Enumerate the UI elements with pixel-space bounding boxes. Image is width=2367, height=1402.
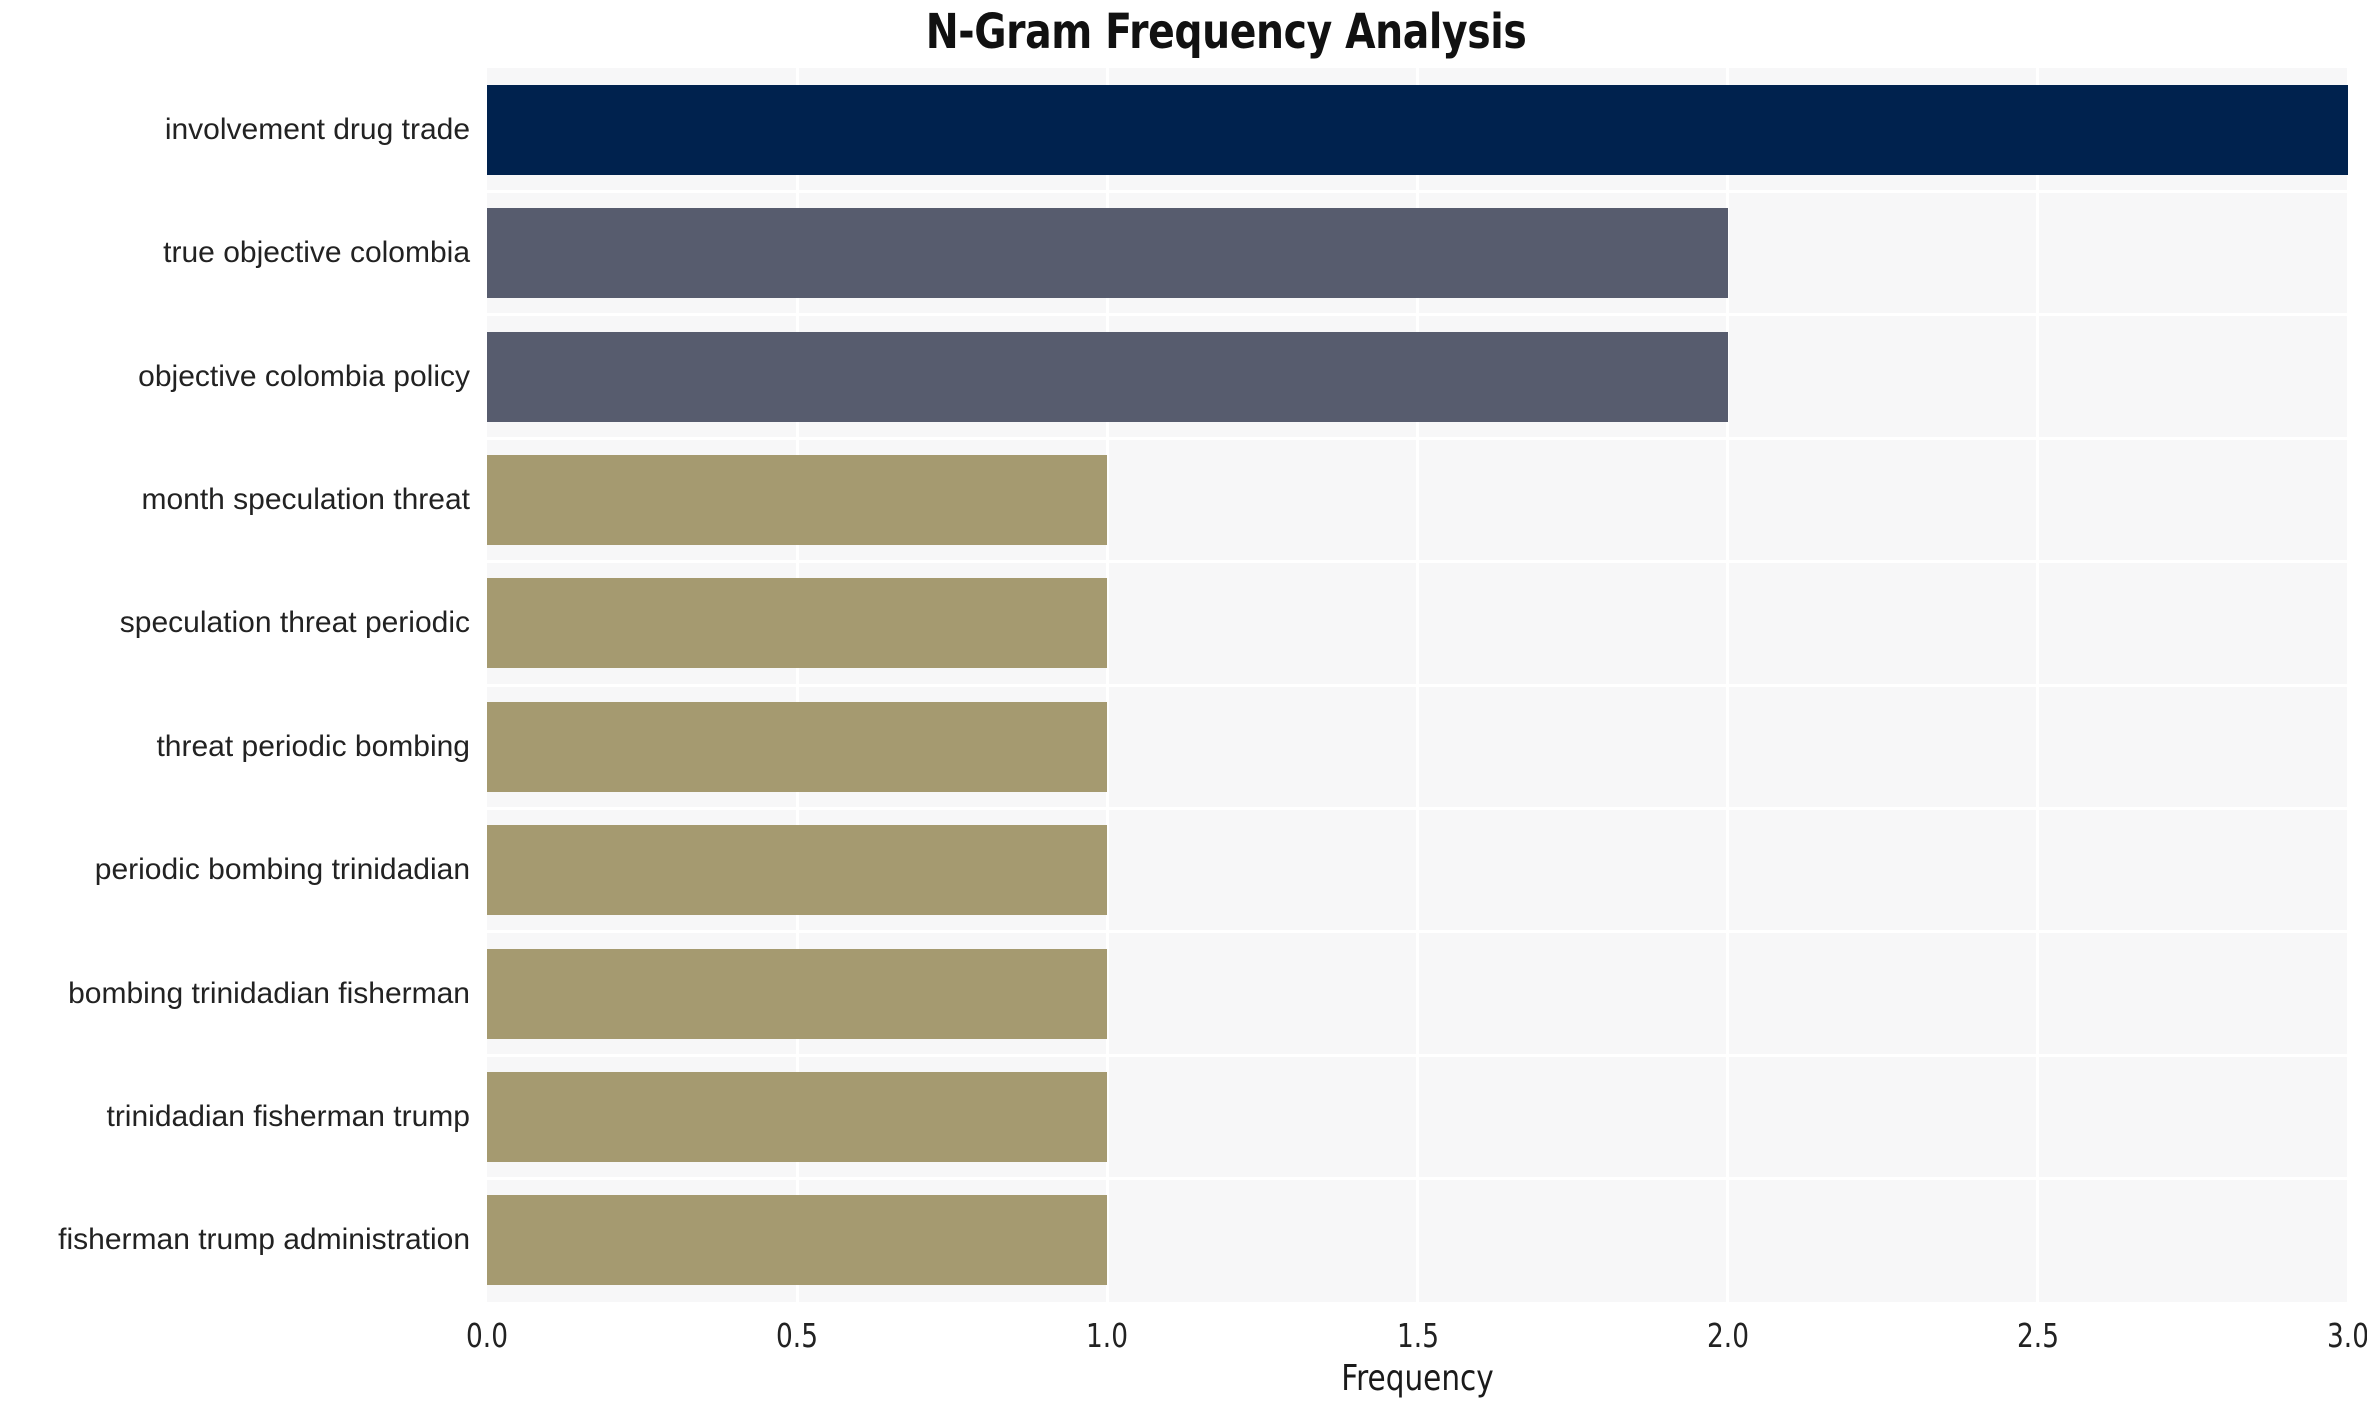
bar [487,578,1107,668]
x-axis-title: Frequency [654,1358,2180,1399]
bar [487,949,1107,1039]
gridline-horizontal [487,313,2348,316]
y-axis-tick-label: speculation threat periodic [0,608,470,638]
y-axis-tick-label: objective colombia policy [0,362,470,392]
bar [487,208,1728,298]
y-axis-tick-label: fisherman trump administration [0,1225,470,1255]
gridline-horizontal [487,190,2348,193]
gridline-horizontal [487,807,2348,810]
gridline-horizontal [487,437,2348,440]
x-axis-tick-label: 1.5 [1354,1316,1482,1355]
x-axis-tick-label: 0.5 [733,1316,861,1355]
gridline-horizontal [487,930,2348,933]
y-axis-tick-label: true objective colombia [0,238,470,268]
y-axis-tick-label: periodic bombing trinidadian [0,855,470,885]
x-axis-tick-label: 2.0 [1664,1316,1792,1355]
bar [487,1072,1107,1162]
x-axis-tick-label: 1.0 [1043,1316,1171,1355]
x-axis-tick-label: 2.5 [1974,1316,2102,1355]
bar [487,825,1107,915]
y-axis-tick-label: bombing trinidadian fisherman [0,979,470,1009]
bar [487,85,2348,175]
y-axis-tick-label: involvement drug trade [0,115,470,145]
chart-title: N-Gram Frequency Analysis [256,4,2197,60]
y-axis-tick-label: month speculation threat [0,485,470,515]
bar [487,1195,1107,1285]
bar [487,332,1728,422]
gridline-horizontal [487,1054,2348,1057]
y-axis-tick-label: threat periodic bombing [0,732,470,762]
y-axis-tick-label: trinidadian fisherman trump [0,1102,470,1132]
gridline-horizontal [487,560,2348,563]
bar [487,702,1107,792]
gridline-horizontal [487,1177,2348,1180]
x-axis-tick-label: 3.0 [2284,1316,2367,1355]
bar [487,455,1107,545]
chart-figure: N-Gram Frequency Analysis involvement dr… [0,0,2367,1402]
gridline-horizontal [487,684,2348,687]
plot-area [487,68,2348,1302]
x-axis-tick-label: 0.0 [423,1316,551,1355]
